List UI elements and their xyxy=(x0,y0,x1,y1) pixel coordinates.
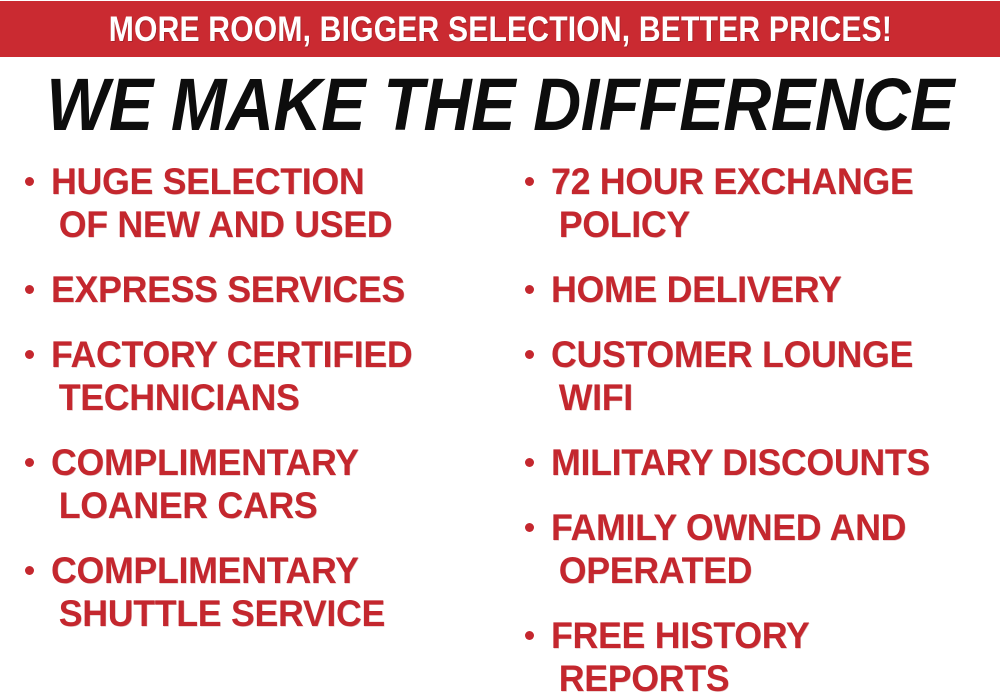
benefit-item-line-1: HOME DELIVERY xyxy=(551,268,842,311)
benefit-item: MILITARY DISCOUNTS xyxy=(518,441,1000,484)
benefit-item: EXPRESS SERVICES xyxy=(18,268,498,311)
benefit-item-line-2: REPORTS xyxy=(551,657,984,694)
benefit-item-line-2: OPERATED xyxy=(551,549,984,592)
benefit-item-line-1: COMPLIMENTARY xyxy=(51,441,359,484)
benefit-item-line-2: OF NEW AND USED xyxy=(51,203,482,246)
benefits-columns: HUGE SELECTIONOF NEW AND USEDEXPRESS SER… xyxy=(0,160,1000,694)
benefit-item-line-1: FREE HISTORY xyxy=(551,614,809,657)
benefit-item-line-1: CUSTOMER LOUNGE xyxy=(551,333,913,376)
benefit-item-line-1: MILITARY DISCOUNTS xyxy=(551,441,930,484)
dealership-benefits-poster: MORE ROOM, BIGGER SELECTION, BETTER PRIC… xyxy=(0,0,1000,694)
benefit-item-line-1: COMPLIMENTARY xyxy=(51,549,359,592)
benefit-item: 72 HOUR EXCHANGEPOLICY xyxy=(518,160,1000,246)
benefit-item-line-2: WIFI xyxy=(551,376,984,419)
benefit-item-line-1: FACTORY CERTIFIED xyxy=(51,333,412,376)
benefit-item-line-1: FAMILY OWNED AND xyxy=(551,506,906,549)
benefit-item: FREE HISTORYREPORTS xyxy=(518,614,1000,694)
page-title: WE MAKE THE DIFFERENCE xyxy=(46,68,954,142)
benefit-item-line-2: POLICY xyxy=(551,203,984,246)
benefit-item: FACTORY CERTIFIEDTECHNICIANS xyxy=(18,333,498,419)
benefit-item: HOME DELIVERY xyxy=(518,268,1000,311)
benefit-item: CUSTOMER LOUNGEWIFI xyxy=(518,333,1000,419)
benefit-item: HUGE SELECTIONOF NEW AND USED xyxy=(18,160,498,246)
benefits-column-left: HUGE SELECTIONOF NEW AND USEDEXPRESS SER… xyxy=(18,160,498,694)
benefit-item-line-2: TECHNICIANS xyxy=(51,376,482,419)
benefit-item-line-1: EXPRESS SERVICES xyxy=(51,268,405,311)
benefits-column-right: 72 HOUR EXCHANGEPOLICYHOME DELIVERYCUSTO… xyxy=(518,160,1000,694)
promo-banner: MORE ROOM, BIGGER SELECTION, BETTER PRIC… xyxy=(0,1,1000,57)
promo-banner-text: MORE ROOM, BIGGER SELECTION, BETTER PRIC… xyxy=(108,12,891,47)
benefit-item: FAMILY OWNED ANDOPERATED xyxy=(518,506,1000,592)
benefit-item: COMPLIMENTARYLOANER CARS xyxy=(18,441,498,527)
benefit-item-line-2: SHUTTLE SERVICE xyxy=(51,592,482,635)
benefit-item-line-2: LOANER CARS xyxy=(51,484,482,527)
benefit-item-line-1: 72 HOUR EXCHANGE xyxy=(551,160,913,203)
headline-container: WE MAKE THE DIFFERENCE xyxy=(0,66,1000,144)
benefit-item-line-1: HUGE SELECTION xyxy=(51,160,364,203)
benefit-item: COMPLIMENTARYSHUTTLE SERVICE xyxy=(18,549,498,635)
